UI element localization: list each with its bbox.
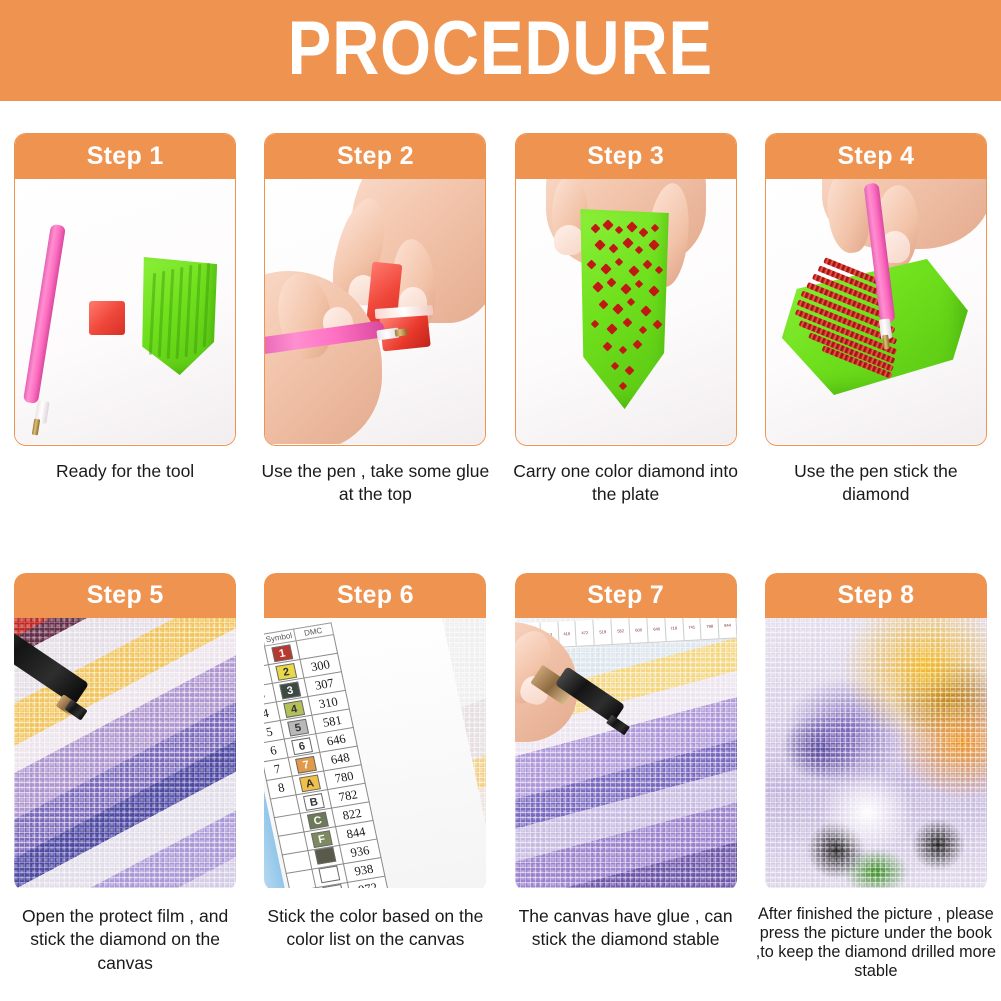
step-header-5: Step 5 [14,573,236,618]
symbol-swatch: 4 [283,700,305,718]
symbol-swatch [315,847,337,865]
step-cell-8: Step 8 After finished the picture , plea… [751,573,1001,993]
step-header-8: Step 8 [765,573,987,618]
step-image-5 [14,618,236,888]
step-caption-4: Use the pen stick the diamond [760,460,992,507]
step-header-7: Step 7 [515,573,737,618]
page-title: PROCEDURE [288,11,713,91]
step-caption-1: Ready for the tool [9,460,241,483]
step-card-3: Step 3 [515,133,737,446]
step-cell-5: Step 5 [0,573,250,993]
step-card-6: Step 6 [264,573,486,891]
step-cell-1: Step 1 [0,133,250,543]
color-chart-icon: Serial Symbol DMC 1 1 [264,618,486,888]
step-caption-6: Stick the color based on the color list … [259,905,491,952]
step-card-2: Step 2 [264,133,486,446]
mosaic-canvas-finished-icon [765,618,987,888]
step-caption-8: After finished the picture , please pres… [754,905,998,981]
step-header-label-5: Step 5 [87,581,164,610]
step-cell-3: Step 3 [501,133,751,543]
step-header-4: Step 4 [766,134,986,179]
step-header-3: Step 3 [516,134,736,179]
step-image-6: Serial Symbol DMC 1 1 [264,618,486,888]
symbol-swatch: 7 [295,755,317,773]
step-header-label-8: Step 8 [837,581,914,610]
step-card-5: Step 5 [14,573,236,891]
symbol-swatch: C [307,811,329,829]
step-card-4: Step 4 [765,133,987,446]
step-cell-6: Step 6 [250,573,500,993]
symbol-swatch: B [303,793,325,811]
step-header-label-6: Step 6 [337,581,414,610]
step-image-7: 310 336 413 415 472 519 552 600 640 718 … [515,618,737,888]
step-image-3 [516,179,736,444]
step-cell-7: Step 7 310 336 413 415 [501,573,751,993]
step-header-label-2: Step 2 [337,142,414,171]
symbol-swatch: 2 [275,662,297,680]
page-header-banner: PROCEDURE [0,0,1001,101]
step-image-2 [265,179,485,444]
procedure-infographic: PROCEDURE Step 1 [0,0,1001,1001]
step-image-1 [15,179,235,444]
symbol-swatch: 1 [272,644,294,662]
symbol-swatch: F [311,830,333,848]
step-image-8 [765,618,987,888]
symbol-swatch: 3 [279,681,301,699]
step-header-label-1: Step 1 [87,142,164,171]
step-header-1: Step 1 [15,134,235,179]
step-header-2: Step 2 [265,134,485,179]
step-cell-4: Step 4 [751,133,1001,543]
steps-row-bottom: Step 5 [0,573,1001,993]
step-card-1: Step 1 [14,133,236,446]
step-caption-5: Open the protect film , and stick the di… [9,905,241,975]
step-caption-2: Use the pen , take some glue at the top [259,460,491,507]
symbol-swatch [319,865,341,883]
step-cell-2: Step 2 [250,133,500,543]
symbol-swatch: A [299,774,321,792]
step-header-label-7: Step 7 [587,581,664,610]
step-caption-7: The canvas have glue , can stick the dia… [510,905,742,952]
step-header-label-4: Step 4 [837,142,914,171]
symbol-swatch: 6 [291,737,313,755]
step-caption-3: Carry one color diamond into the plate [510,460,742,507]
step-card-8: Step 8 [765,573,987,891]
step-header-label-3: Step 3 [587,142,664,171]
step-image-4 [766,179,986,444]
step-header-6: Step 6 [264,573,486,618]
symbol-swatch: 5 [287,718,309,736]
steps-row-top: Step 1 [0,133,1001,543]
step-card-7: Step 7 310 336 413 415 [515,573,737,891]
red-wax-square-icon [89,301,125,335]
